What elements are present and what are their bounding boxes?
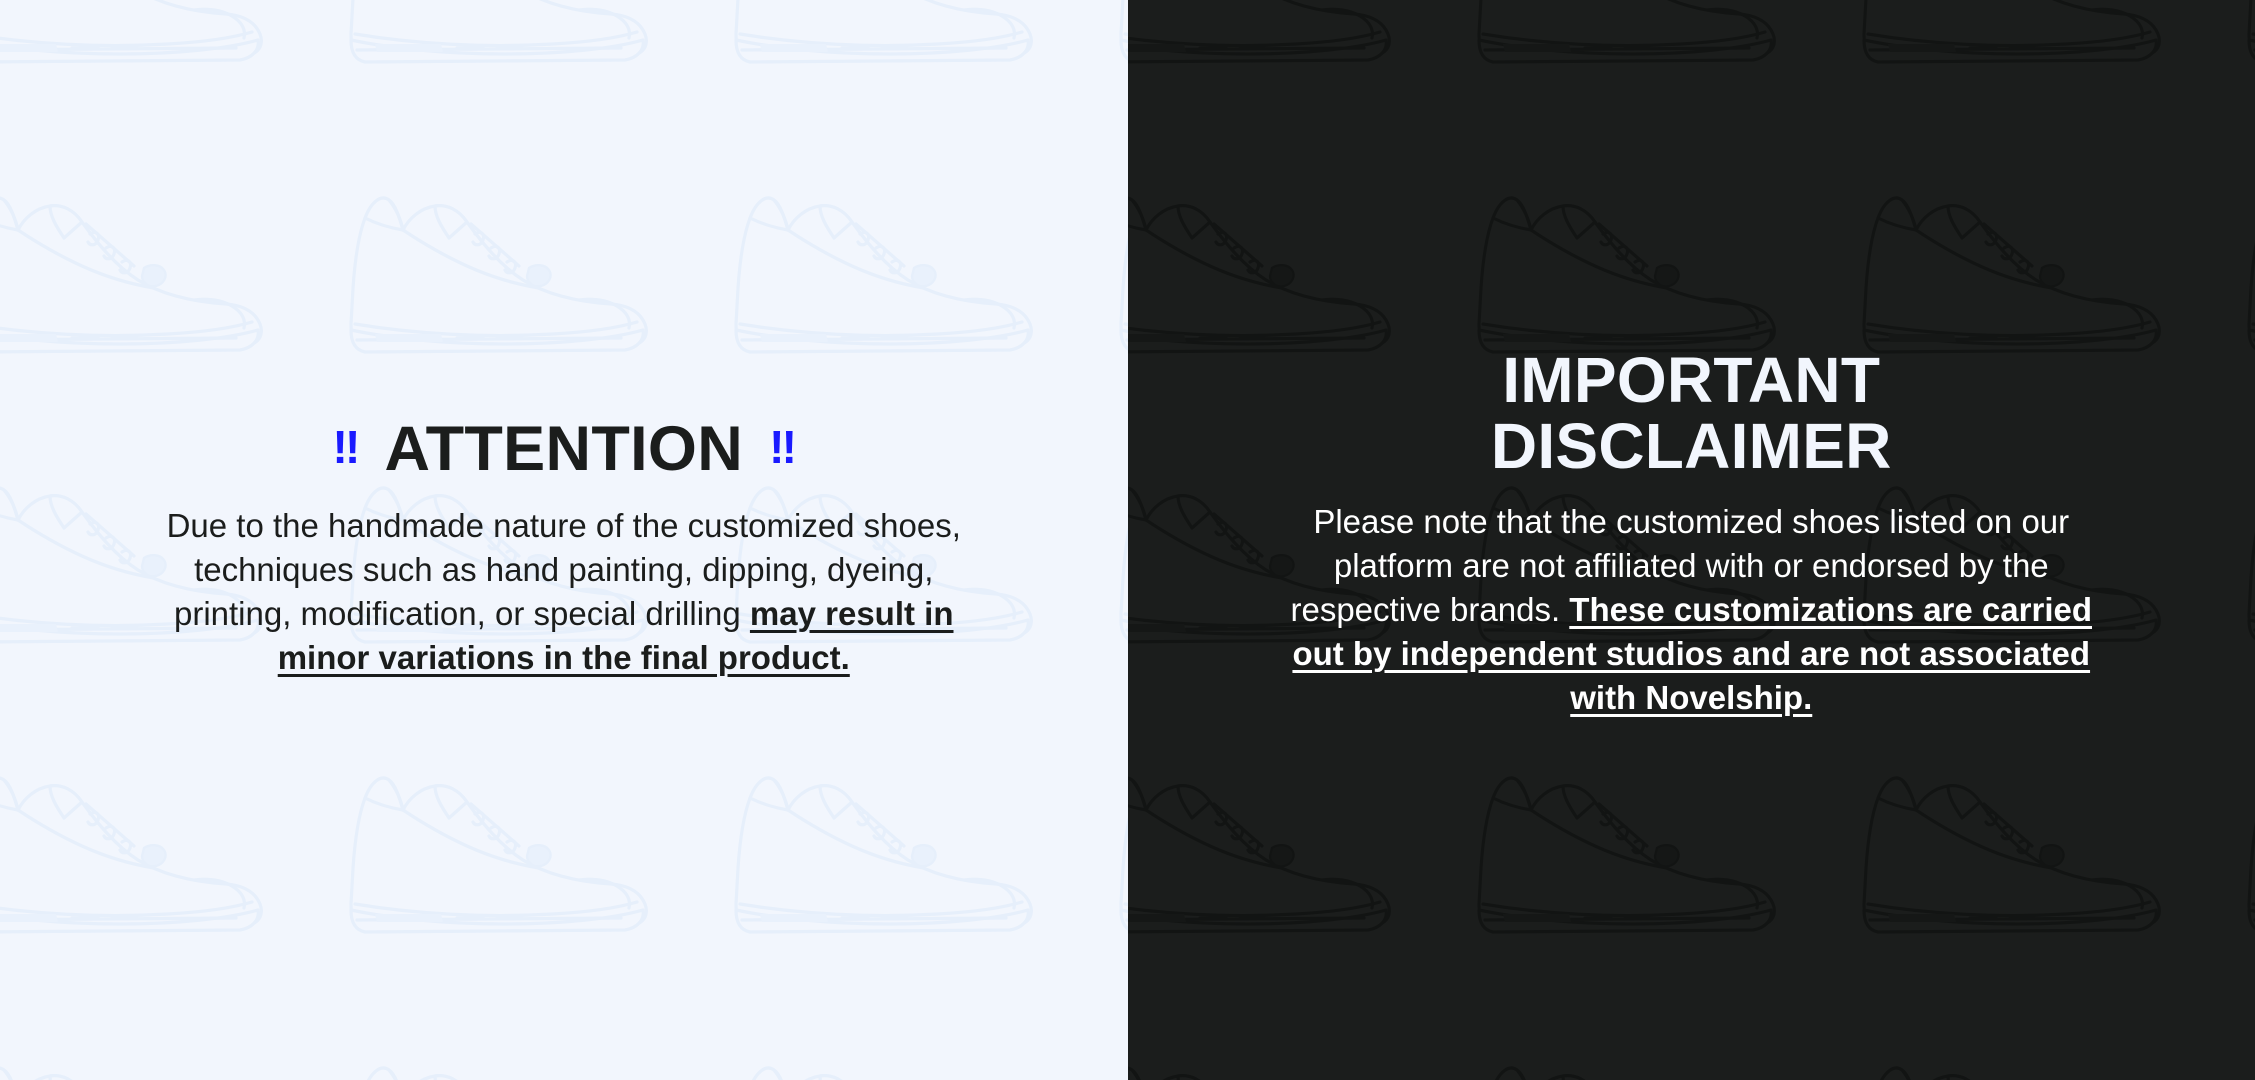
disclaimer-body: Please note that the customized shoes li… (1276, 500, 2106, 719)
disclaimer-heading: IMPORTANT DISCLAIMER (1371, 348, 2011, 480)
disclaimer-heading-line2: DISCLAIMER (1491, 410, 1892, 482)
disclaimer-banner: ‼ ATTENTION ‼ Due to the handmade nature… (0, 0, 2255, 1080)
attention-heading: ‼ ATTENTION ‼ (40, 417, 1088, 481)
attention-body: Due to the handmade nature of the custom… (164, 504, 964, 680)
disclaimer-panel: IMPORTANT DISCLAIMER Please note that th… (1128, 0, 2255, 1080)
double-exclamation-icon-right: ‼ (769, 424, 795, 470)
attention-content: ‼ ATTENTION ‼ Due to the handmade nature… (0, 417, 1128, 680)
disclaimer-heading-line1: IMPORTANT (1502, 344, 1880, 416)
attention-heading-word: ATTENTION (384, 417, 743, 481)
double-exclamation-icon-left: ‼ (332, 424, 358, 470)
disclaimer-content: IMPORTANT DISCLAIMER Please note that th… (1128, 348, 2255, 719)
attention-panel: ‼ ATTENTION ‼ Due to the handmade nature… (0, 0, 1128, 1080)
